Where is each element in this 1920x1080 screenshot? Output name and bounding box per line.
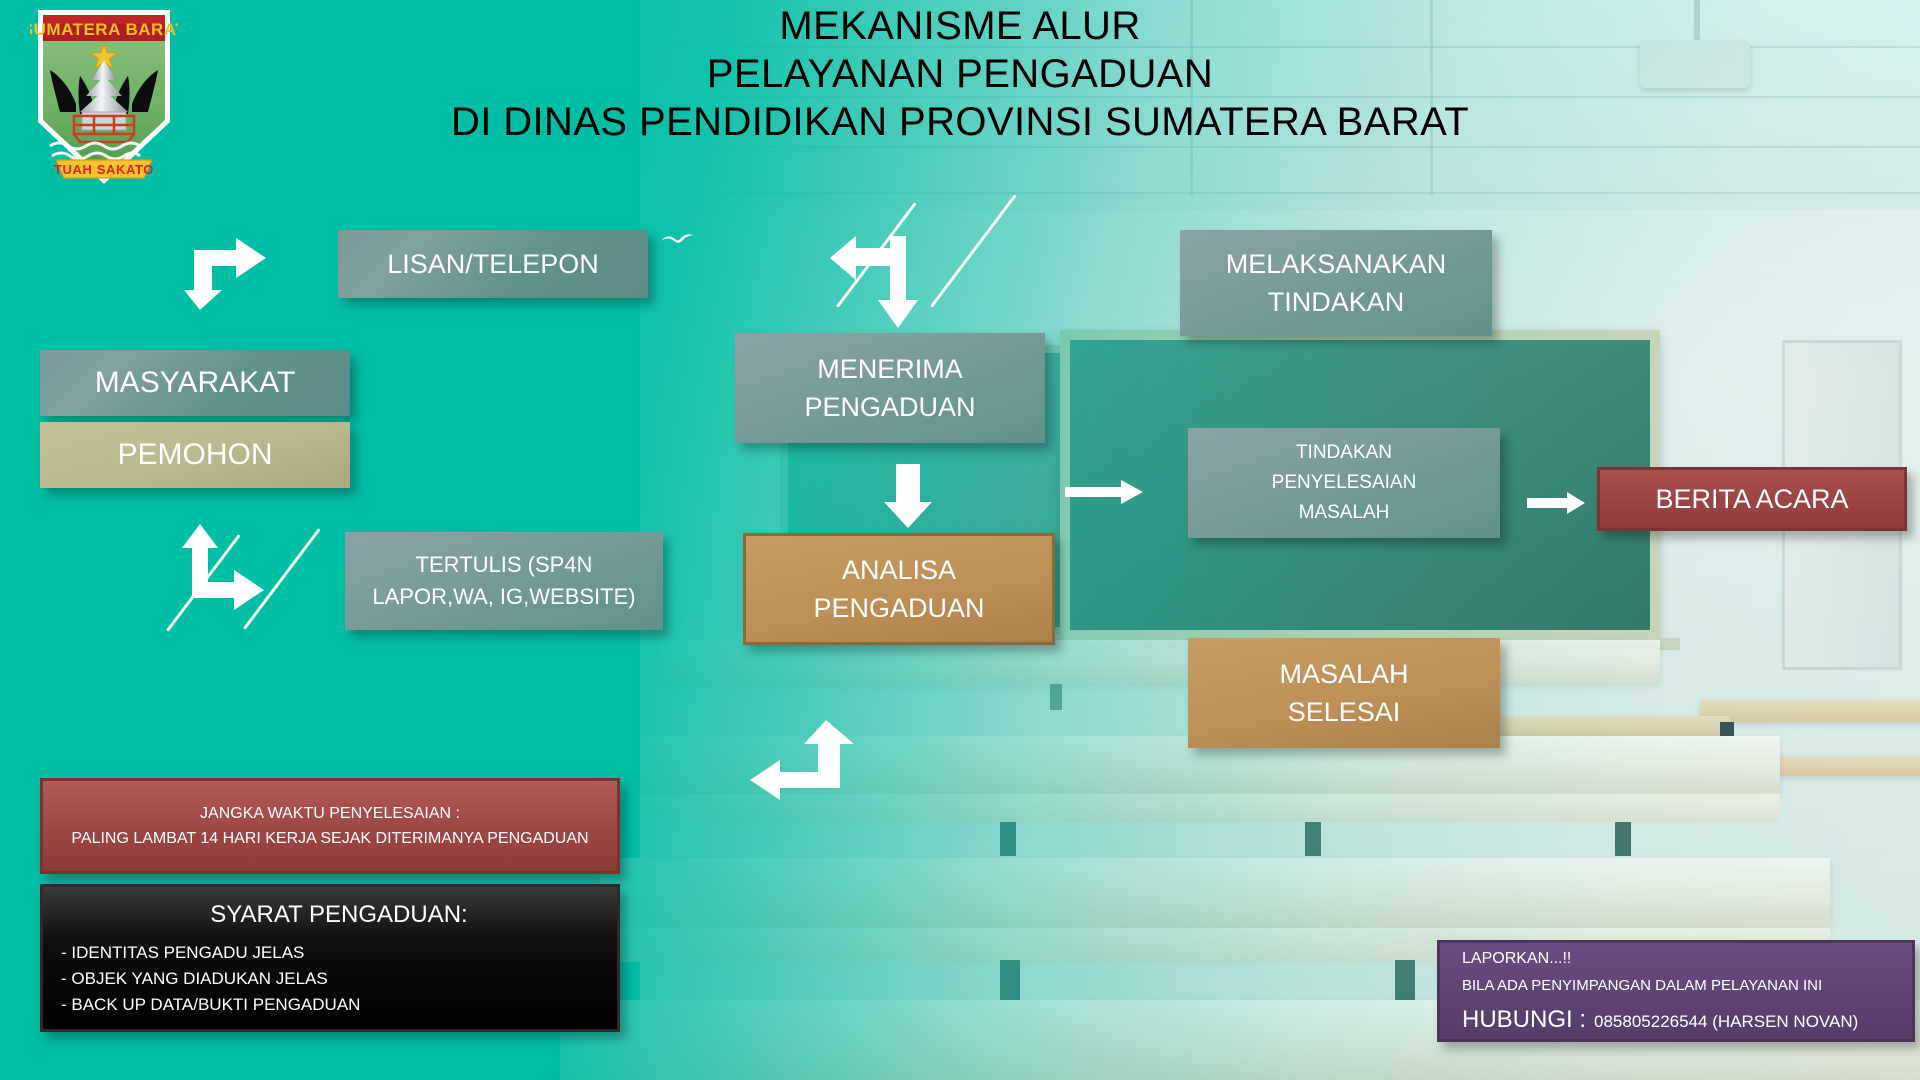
panel-syarat-pengaduan: SYARAT PENGADUAN: - IDENTITAS PENGADU JE…	[40, 884, 620, 1032]
arrow-menerima-to-analisa	[882, 462, 934, 530]
node-pemohon-line-1: PEMOHON	[117, 435, 272, 475]
node-lisan-telepon[interactable]: LISAN/TELEPON	[338, 230, 648, 298]
node-analisa-pengaduan-line-2: PENGADUAN	[813, 589, 984, 627]
slide-canvas: SUMATERA BARAT TUAH SAKATO	[0, 0, 1920, 1080]
contact-hubungi-value: 085805226544 (HARSEN NOVAN)	[1594, 1009, 1858, 1035]
node-analisa-pengaduan[interactable]: ANALISA PENGADUAN	[743, 533, 1055, 645]
bird-decor-icon	[660, 228, 694, 250]
node-masalah-selesai-line-1: MASALAH	[1279, 655, 1408, 693]
node-menerima-pengaduan-line-1: MENERIMA	[817, 350, 963, 388]
arrow-tertulis-to-pemohon	[178, 520, 270, 612]
syarat-item-3: - BACK UP DATA/BUKTI PENGADUAN	[61, 992, 360, 1018]
jangka-waktu-line-2: PALING LAMBAT 14 HARI KERJA SEJAK DITERI…	[71, 826, 588, 851]
node-melaksanakan-tindakan[interactable]: MELAKSANAKAN TINDAKAN	[1180, 230, 1492, 336]
syarat-item-1: - IDENTITAS PENGADU JELAS	[61, 940, 304, 966]
node-pemohon[interactable]: PEMOHON	[40, 422, 350, 488]
contact-hubungi-row: HUBUNGI : 085805226544 (HARSEN NOVAN)	[1462, 1003, 1858, 1037]
node-masalah-selesai[interactable]: MASALAH SELESAI	[1188, 638, 1500, 748]
node-masalah-selesai-line-2: SELESAI	[1288, 693, 1401, 731]
svg-text:TUAH SAKATO: TUAH SAKATO	[54, 162, 154, 177]
arrow-to-berita-acara-right	[1525, 490, 1587, 516]
arrow-to-berita-acara-left	[1063, 478, 1145, 506]
node-masyarakat-line-1: MASYARAKAT	[95, 363, 296, 403]
node-berita-acara[interactable]: BERITA ACARA	[1597, 467, 1907, 531]
node-tertulis-line-2: LAPOR,WA, IG,WEBSITE)	[372, 581, 635, 613]
node-tindakan-penyelesaian-masalah-line-2: PENYELESAIAN	[1272, 468, 1417, 498]
node-masyarakat[interactable]: MASYARAKAT	[40, 350, 350, 416]
provincial-emblem-logo: SUMATERA BARAT TUAH SAKATO	[30, 4, 178, 190]
panel-contact: LAPORKAN...!! BILA ADA PENYIMPANGAN DALA…	[1437, 940, 1915, 1042]
node-tindakan-penyelesaian-masalah-line-1: TINDAKAN	[1296, 438, 1392, 468]
node-tindakan-penyelesaian-masalah-line-3: MASALAH	[1299, 498, 1390, 528]
jangka-waktu-line-1: JANGKA WAKTU PENYELESAIAN :	[200, 801, 460, 826]
syarat-heading: SYARAT PENGADUAN:	[61, 898, 617, 932]
contact-line-1: LAPORKAN...!!	[1462, 946, 1571, 971]
node-melaksanakan-tindakan-line-1: MELAKSANAKAN	[1226, 245, 1447, 283]
arrow-masalah-selesai-loop	[748, 718, 858, 810]
panel-jangka-waktu: JANGKA WAKTU PENYELESAIAN : PALING LAMBA…	[40, 778, 620, 874]
node-berita-acara-line-1: BERITA ACARA	[1655, 480, 1848, 518]
node-menerima-pengaduan[interactable]: MENERIMA PENGADUAN	[735, 333, 1045, 443]
node-tindakan-penyelesaian-masalah[interactable]: TINDAKAN PENYELESAIAN MASALAH	[1188, 428, 1500, 538]
node-melaksanakan-tindakan-line-2: TINDAKAN	[1268, 283, 1405, 321]
arrow-masyarakat-to-lisan	[180, 232, 272, 314]
node-tertulis[interactable]: TERTULIS (SP4N LAPOR,WA, IG,WEBSITE)	[345, 532, 663, 630]
node-menerima-pengaduan-line-2: PENGADUAN	[804, 388, 975, 426]
node-analisa-pengaduan-line-1: ANALISA	[842, 551, 956, 589]
node-lisan-telepon-line-1: LISAN/TELEPON	[387, 245, 599, 283]
node-tertulis-line-1: TERTULIS (SP4N	[416, 549, 593, 581]
contact-line-2: BILA ADA PENYIMPANGAN DALAM PELAYANAN IN…	[1462, 974, 1822, 998]
syarat-item-2: - OBJEK YANG DIADUKAN JELAS	[61, 966, 328, 992]
arrow-into-menerima-pengaduan	[828, 222, 924, 332]
contact-hubungi-label: HUBUNGI :	[1462, 1003, 1586, 1037]
svg-text:SUMATERA BARAT: SUMATERA BARAT	[30, 20, 178, 39]
